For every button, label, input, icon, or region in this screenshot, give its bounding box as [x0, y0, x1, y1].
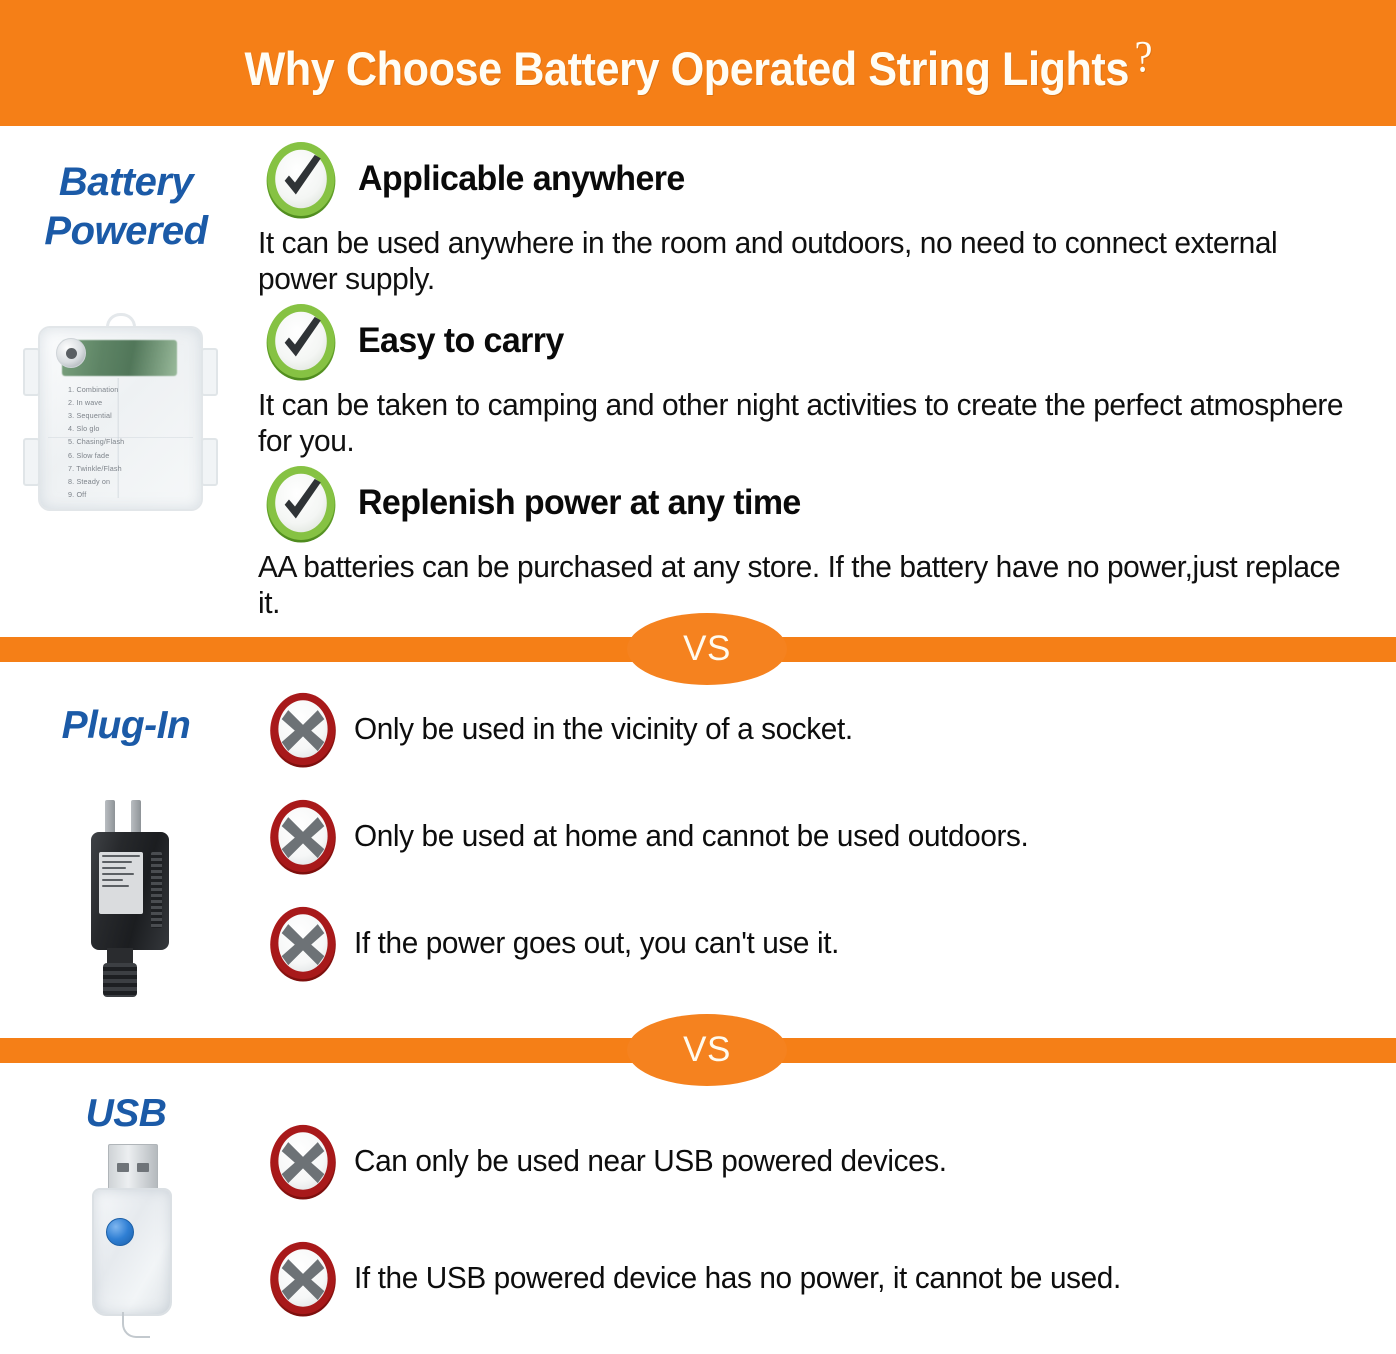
section-plug-in: Plug-In — [0, 680, 1396, 1025]
battery-left-column: Battery Powered 1. Combination 2. In wav… — [0, 126, 248, 620]
feature-2-body: It can be taken to camping and other nig… — [258, 387, 1348, 459]
feature-3-head: Replenish power at any time — [258, 460, 1388, 546]
battery-box-image: 1. Combination 2. In wave 3. Sequential … — [38, 326, 203, 511]
category-label-plug-in: Plug-In — [8, 702, 244, 750]
con-item-3-text: If the power goes out, you can't use it. — [354, 925, 839, 961]
battery-box-button — [56, 338, 86, 368]
vs-divider-2: VS — [0, 1014, 1396, 1086]
header-banner: Why Choose Battery Operated String Light… — [0, 0, 1396, 126]
battery-right-column: Applicable anywhere It can be used anywh… — [248, 126, 1396, 620]
red-cross-icon — [262, 1237, 344, 1319]
usb-left-column: USB — [0, 1082, 248, 1354]
usb-connector — [108, 1144, 158, 1192]
feature-1-head: Applicable anywhere — [258, 136, 1388, 222]
page-title: Why Choose Battery Operated String Light… — [244, 31, 1152, 96]
usb-shell — [92, 1188, 172, 1316]
battery-box-tab-right-bottom — [201, 438, 218, 486]
feature-2-head: Easy to carry — [258, 298, 1388, 384]
con-item-2-text: Only be used at home and cannot be used … — [354, 818, 1028, 854]
con-item-1: Only be used in the vicinity of a socket… — [262, 688, 874, 770]
battery-box-tab-right-top — [201, 348, 218, 396]
usb-power-button — [106, 1218, 134, 1246]
category-label-usb: USB — [8, 1090, 244, 1138]
feature-item-1: Applicable anywhere It can be used anywh… — [258, 136, 1388, 297]
category-label-battery: Battery Powered — [8, 158, 244, 256]
battery-mode-item: 1. Combination — [68, 383, 124, 396]
vs-divider-1-label: VS — [683, 629, 731, 669]
battery-mode-list: 1. Combination 2. In wave 3. Sequential … — [68, 383, 124, 501]
green-check-icon — [258, 460, 344, 546]
usb-adapter-image — [78, 1144, 188, 1340]
plug-barrel-connector — [103, 963, 137, 997]
con-item-2: Only be used at home and cannot be used … — [262, 795, 1057, 877]
red-cross-icon — [262, 902, 344, 984]
battery-mode-item: 3. Sequential — [68, 409, 124, 422]
feature-item-3: Replenish power at any time AA batteries… — [258, 460, 1388, 621]
feature-1-body: It can be used anywhere in the room and … — [258, 225, 1348, 297]
usb-cord — [122, 1312, 150, 1338]
vs-divider-1: VS — [0, 613, 1396, 685]
usb-right-column: Can only be used near USB powered device… — [248, 1082, 1396, 1354]
category-label-line-1: Battery — [8, 158, 244, 207]
plug-right-column: Only be used in the vicinity of a socket… — [248, 680, 1396, 1025]
red-cross-icon — [262, 795, 344, 877]
feature-3-body: AA batteries can be purchased at any sto… — [258, 549, 1348, 621]
category-label-line-2: Powered — [8, 207, 244, 256]
con-item-3: If the power goes out, you can't use it. — [262, 902, 859, 984]
battery-mode-item: 9. Off — [68, 488, 124, 501]
plug-body — [91, 832, 169, 950]
vs-divider-2-label: VS — [683, 1030, 731, 1070]
battery-mode-item: 5. Chasing/Flash — [68, 435, 124, 448]
con-item-1: Can only be used near USB powered device… — [262, 1120, 971, 1202]
red-cross-icon — [262, 688, 344, 770]
feature-3-title: Replenish power at any time — [358, 483, 801, 523]
battery-mode-item: 4. Slo glo — [68, 422, 124, 435]
section-battery-powered: Battery Powered 1. Combination 2. In wav… — [0, 126, 1396, 620]
battery-mode-item: 6. Slow fade — [68, 449, 124, 462]
question-mark-glyph: ? — [1134, 32, 1152, 81]
battery-mode-item: 7. Twinkle/Flash — [68, 462, 124, 475]
page-title-text: Why Choose Battery Operated String Light… — [244, 42, 1128, 95]
plug-left-column: Plug-In — [0, 680, 248, 1025]
con-item-1-text: Can only be used near USB powered device… — [354, 1143, 947, 1179]
battery-box-tab-left-bottom — [23, 438, 40, 486]
vs-divider-2-badge: VS — [627, 1014, 787, 1086]
plug-adapter-image — [75, 800, 195, 1000]
battery-mode-item: 2. In wave — [68, 396, 124, 409]
con-item-2: If the USB powered device has no power, … — [262, 1237, 1153, 1319]
battery-box-tab-left-top — [23, 348, 40, 396]
battery-mode-item: 8. Steady on — [68, 475, 124, 488]
infographic-page: Why Choose Battery Operated String Light… — [0, 0, 1396, 1354]
vs-divider-1-badge: VS — [627, 613, 787, 685]
con-item-1-text: Only be used in the vicinity of a socket… — [354, 711, 853, 747]
plug-prong-left — [105, 800, 115, 834]
feature-2-title: Easy to carry — [358, 321, 564, 361]
plug-prong-right — [131, 800, 141, 834]
feature-1-title: Applicable anywhere — [358, 159, 685, 199]
green-check-icon — [258, 136, 344, 222]
plug-spec-label — [99, 852, 143, 914]
green-check-icon — [258, 298, 344, 384]
section-usb: USB Can only be used near USB powered de… — [0, 1082, 1396, 1354]
con-item-2-text: If the USB powered device has no power, … — [354, 1260, 1121, 1296]
feature-item-2: Easy to carry It can be taken to camping… — [258, 298, 1388, 459]
red-cross-icon — [262, 1120, 344, 1202]
